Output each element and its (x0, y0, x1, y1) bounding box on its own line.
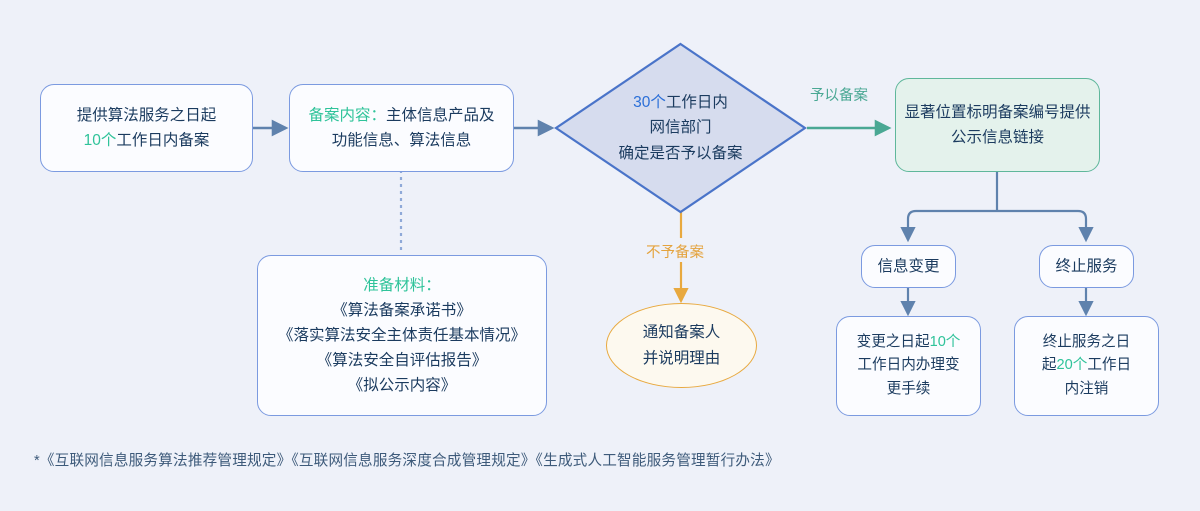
node-filing-content-line2: 功能信息、算法信息 (332, 128, 472, 153)
node-terminate-detail-line2-pre: 起 (1042, 357, 1057, 373)
node-change-detail-line3: 更手续 (887, 378, 931, 402)
node-materials-item-3: 《算法安全自评估报告》 (317, 348, 488, 373)
node-filing-content[interactable]: 备案内容：主体信息产品及 功能信息、算法信息 (289, 84, 514, 172)
node-change-detail-line1-pre: 变更之日起 (857, 334, 930, 350)
connector-branch-to-terminate (997, 211, 1086, 240)
node-materials[interactable]: 准备材料： 《算法备案承诺书》 《落实算法安全主体责任基本情况》 《算法安全自评… (257, 255, 547, 416)
node-terminate-service[interactable]: 终止服务 (1039, 245, 1134, 288)
node-start-line1: 提供算法服务之日起 (77, 103, 217, 128)
node-change-detail-accent: 10个 (930, 334, 961, 350)
node-decision-text: 30个工作日内 网信部门 确定是否予以备案 (618, 90, 742, 165)
node-terminate-detail-line2: 起20个工作日 (1042, 354, 1131, 378)
node-decision[interactable]: 30个工作日内 网信部门 确定是否予以备案 (554, 42, 807, 214)
node-info-change[interactable]: 信息变更 (861, 245, 956, 288)
node-decision-accent: 30个 (633, 94, 666, 111)
node-reject-notice-line1: 通知备案人 (643, 320, 721, 345)
flowchart-canvas: 提供算法服务之日起 10个工作日内备案 备案内容：主体信息产品及 功能信息、算法… (0, 0, 1200, 511)
node-terminate-detail-accent: 20个 (1056, 357, 1087, 373)
node-start-accent: 10个 (84, 132, 117, 149)
node-publish-filing-number[interactable]: 显著位置标明备案编号提供 公示信息链接 (895, 78, 1100, 172)
node-publish-line1: 显著位置标明备案编号提供 (904, 100, 1090, 125)
node-terminate-detail-line2-post: 工作日 (1087, 357, 1131, 373)
edge-label-reject: 不予备案 (646, 241, 704, 262)
node-filing-content-accent: 备案内容： (308, 107, 386, 124)
node-info-change-label: 信息变更 (877, 254, 939, 279)
node-decision-line3: 确定是否予以备案 (618, 141, 742, 166)
node-terminate-detail-line1: 终止服务之日 (1043, 331, 1131, 355)
node-reject-notice[interactable]: 通知备案人 并说明理由 (606, 303, 757, 388)
node-materials-item-4: 《拟公示内容》 (348, 373, 457, 398)
edge-label-approve: 予以备案 (810, 84, 868, 105)
node-decision-line2: 网信部门 (618, 115, 742, 140)
node-reject-notice-line2: 并说明理由 (643, 346, 721, 371)
node-change-detail-line2: 工作日内办理变 (857, 354, 959, 378)
connector-branch-to-change (908, 211, 997, 240)
node-materials-heading: 准备材料： (363, 273, 441, 298)
footnote-regulations: *《互联网信息服务算法推荐管理规定》《互联网信息服务深度合成管理规定》《生成式人… (34, 449, 780, 470)
node-filing-content-line1-rest: 主体信息产品及 (386, 107, 495, 124)
node-terminate-detail[interactable]: 终止服务之日 起20个工作日 内注销 (1014, 316, 1159, 416)
node-change-detail[interactable]: 变更之日起10个 工作日内办理变 更手续 (836, 316, 981, 416)
node-decision-line1: 30个工作日内 (618, 90, 742, 115)
node-change-detail-line1: 变更之日起10个 (857, 331, 961, 355)
node-terminate-detail-line3: 内注销 (1065, 378, 1109, 402)
node-decision-line1-rest: 工作日内 (666, 94, 728, 111)
node-materials-item-1: 《算法备案承诺书》 (332, 298, 472, 323)
node-start[interactable]: 提供算法服务之日起 10个工作日内备案 (40, 84, 253, 172)
node-start-line2: 10个工作日内备案 (84, 128, 210, 153)
node-publish-line2: 公示信息链接 (951, 125, 1044, 150)
node-start-line2-rest: 工作日内备案 (116, 132, 209, 149)
node-filing-content-line1: 备案内容：主体信息产品及 (308, 103, 494, 128)
node-terminate-service-label: 终止服务 (1055, 254, 1117, 279)
node-materials-item-2: 《落实算法安全主体责任基本情况》 (278, 323, 526, 348)
